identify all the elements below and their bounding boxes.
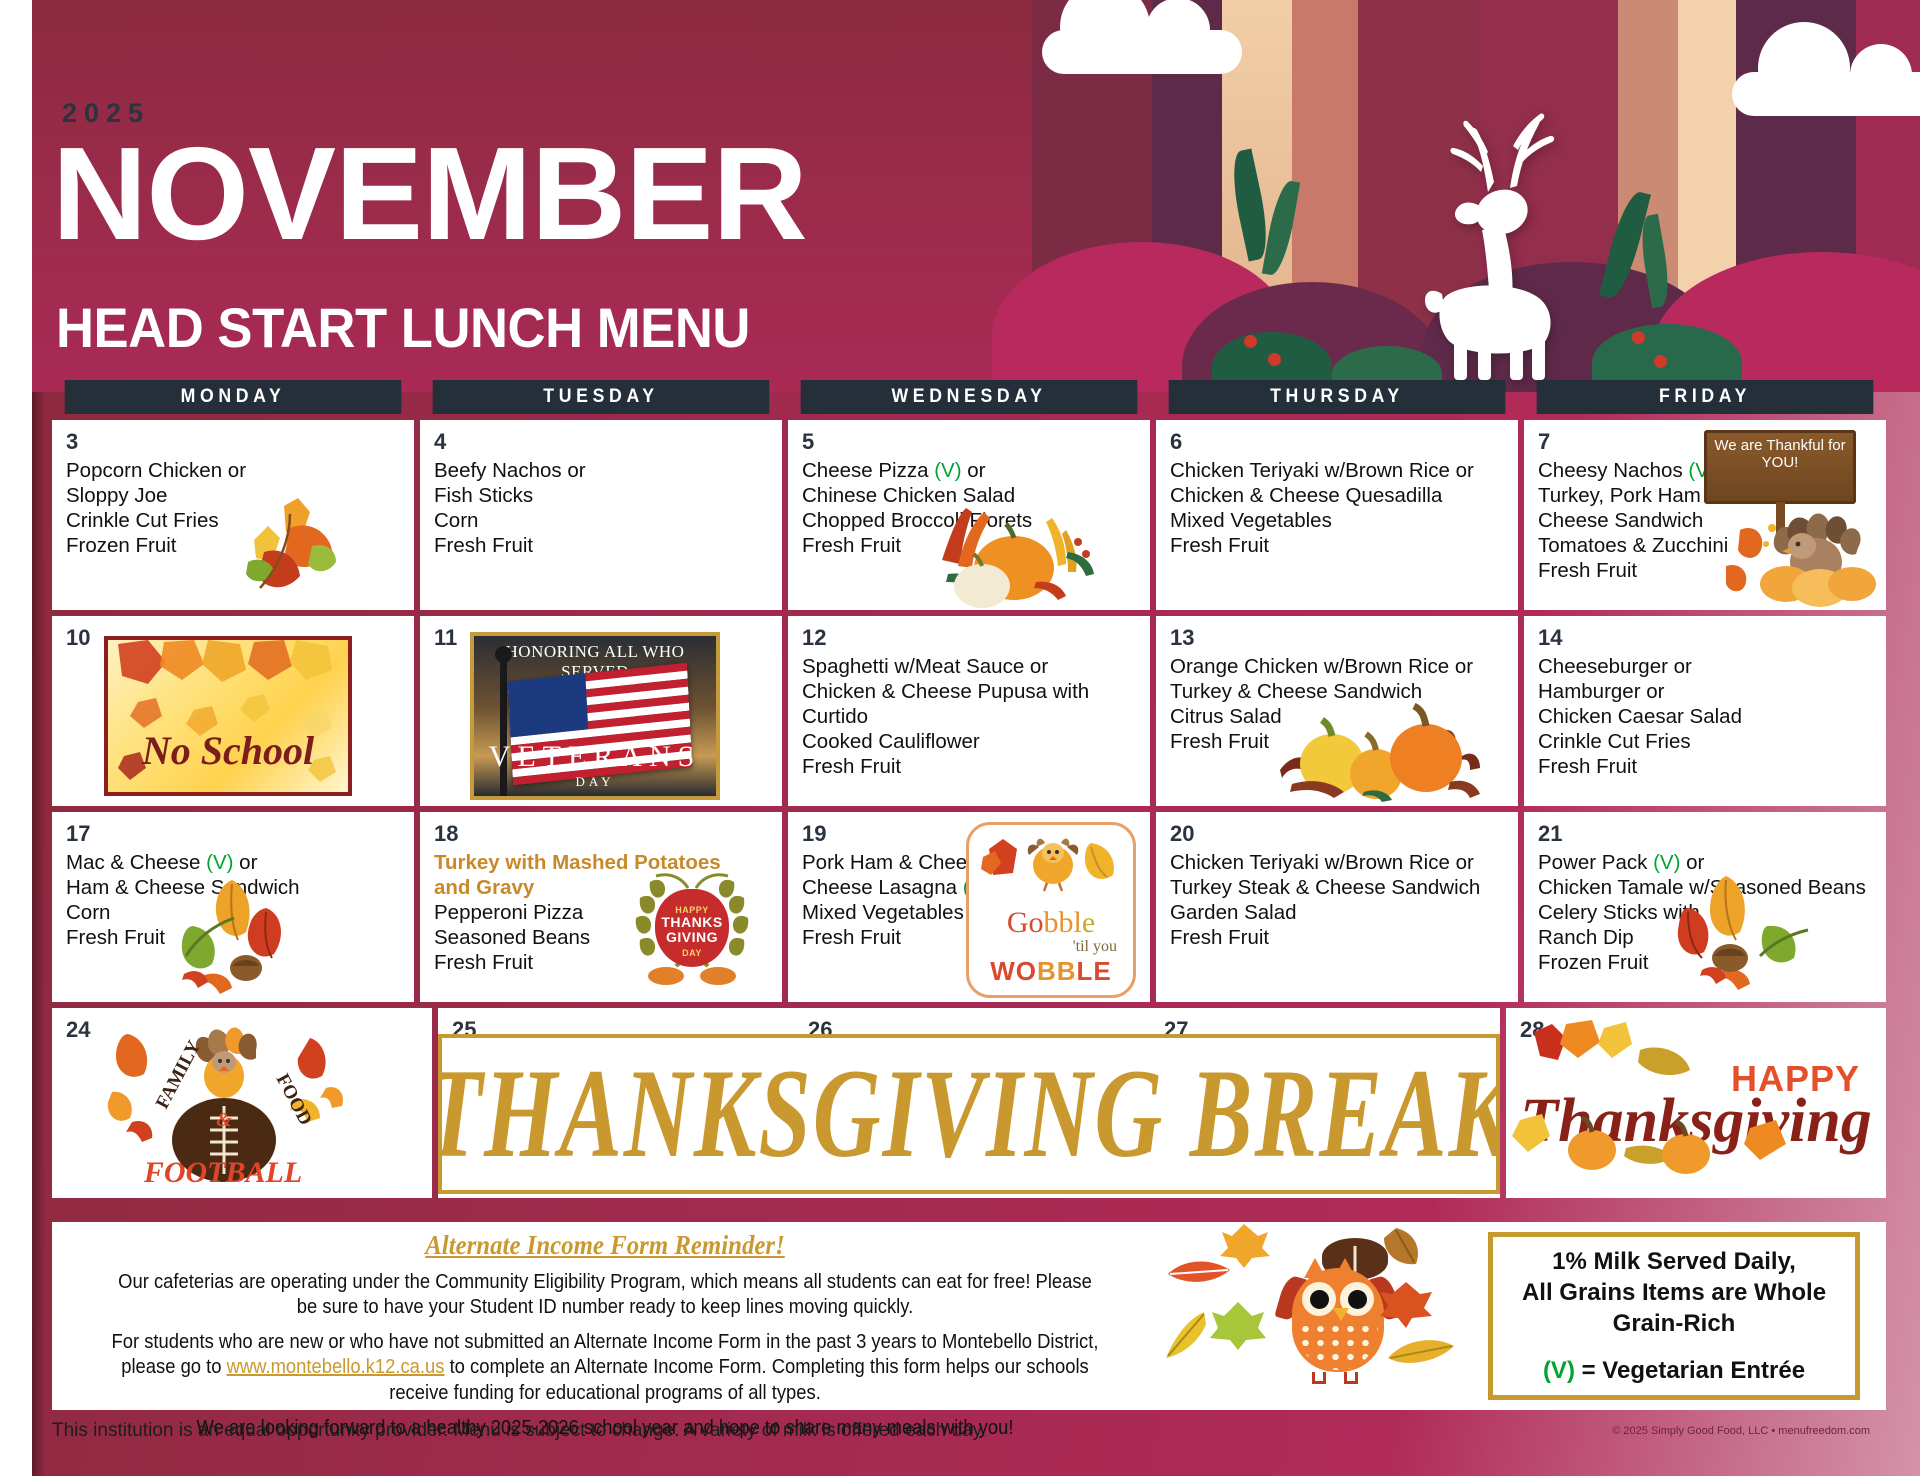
footer-paragraph-2: For students who are new or who have not… [105, 1330, 1104, 1407]
menu-item: Fresh Fruit [1170, 925, 1506, 950]
menu-item: Crinkle Cut Fries [1538, 729, 1874, 754]
menu-item: Chopped Broccoli Florets [802, 508, 1138, 533]
footer-title: Alternate Income Form Reminder! [105, 1228, 1104, 1263]
day-number: 6 [1170, 430, 1506, 454]
day-cell-20[interactable]: 20 Chicken Teriyaki w/Brown Rice or Turk… [1156, 812, 1518, 1002]
weekday-thursday: THURSDAY [1169, 380, 1506, 414]
day-cell-12[interactable]: 12 Spaghetti w/Meat Sauce or Chicken & C… [788, 616, 1150, 806]
menu-items: Chicken Teriyaki w/Brown Rice or Turkey … [1170, 850, 1506, 950]
day-cell-18[interactable]: 18 Turkey with Mashed Potatoes and Gravy… [420, 812, 782, 1002]
menu-items: Popcorn Chicken or Sloppy Joe Crinkle Cu… [66, 458, 402, 558]
thankful-turkey-sign-icon: We are Thankful for YOU! [1680, 426, 1880, 604]
calendar-grid: 3 Popcorn Chicken or Sloppy Joe Crinkle … [52, 420, 1886, 1204]
berry-icon [1244, 335, 1257, 348]
menu-item: Garden Salad [1170, 900, 1506, 925]
day-cell-17[interactable]: 17 Mac & Cheese (V) or Ham & Cheese Sand… [52, 812, 414, 1002]
day-cell-11[interactable]: 11 HONORING ALL WHO SERVED [420, 616, 782, 806]
menu-item: Power Pack (V) or [1538, 850, 1874, 875]
menu-item: Sloppy Joe [66, 483, 402, 508]
footer-paragraph-1: Our cafeterias are operating under the C… [105, 1270, 1104, 1321]
bottom-bar: This institution is an equal opportunity… [52, 1414, 1886, 1448]
menu-item: Orange Chicken w/Brown Rice or [1170, 654, 1506, 679]
day-number: 4 [434, 430, 770, 454]
footer-artwork [1158, 1222, 1488, 1410]
menu-item: Turkey & Cheese Sandwich [1170, 679, 1506, 704]
menu-item: Frozen Fruit [1538, 950, 1874, 975]
wreath-apple: HAPPYTHANKSGIVINGDAY [655, 889, 729, 967]
milk-line-3: Grain-Rich [1613, 1308, 1736, 1339]
menu-item: Crinkle Cut Fries [66, 508, 402, 533]
svg-text:&: & [216, 1109, 232, 1131]
day-number: 3 [66, 430, 402, 454]
menu-item: Fresh Fruit [1170, 533, 1506, 558]
thanksgiving-break-cells[interactable]: 25 26 27 THANKSGIVING BREAK [438, 1008, 1500, 1198]
menu-item: Ranch Dip [1538, 925, 1874, 950]
thanksgiving-break-text: THANKSGIVING BREAK [438, 1041, 1500, 1187]
day-cell-24[interactable]: 24 [52, 1008, 432, 1198]
menu-subtitle: HEAD START LUNCH MENU [56, 300, 750, 356]
menu-page: 2025 NOVEMBER HEAD START LUNCH MENU MOND… [0, 0, 1920, 1484]
menu-item: Mixed Vegetables [1170, 508, 1506, 533]
vegetarian-legend-text: = Vegetarian Entrée [1575, 1357, 1805, 1384]
menu-items: Spaghetti w/Meat Sauce or Chicken & Chee… [802, 654, 1138, 779]
montebello-website-link[interactable]: www.montebello.k12.ca.us [227, 1356, 445, 1378]
menu-item: Fresh Fruit [1170, 729, 1506, 754]
day-cell-4[interactable]: 4 Beefy Nachos or Fish Sticks Corn Fresh… [420, 420, 782, 610]
day-number: 20 [1170, 822, 1506, 846]
month-title: NOVEMBER [52, 128, 807, 260]
vegetarian-marker: (V) [1543, 1357, 1575, 1384]
menu-items: Chicken Teriyaki w/Brown Rice or Chicken… [1170, 458, 1506, 558]
vegetarian-marker: (V) [206, 851, 233, 874]
footer-panel: Alternate Income Form Reminder! Our cafe… [52, 1222, 1886, 1410]
menu-items: Mac & Cheese (V) or Ham & Cheese Sandwic… [66, 850, 402, 950]
equal-opportunity-notice: This institution is an equal opportunity… [52, 1420, 986, 1442]
weekday-friday: FRIDAY [1537, 380, 1874, 414]
day-cell-28[interactable]: 28 HAPPY [1506, 1008, 1886, 1198]
day-cell-3[interactable]: 3 Popcorn Chicken or Sloppy Joe Crinkle … [52, 420, 414, 610]
menu-item: Chicken Caesar Salad [1538, 704, 1874, 729]
menu-items: Cheeseburger or Hamburger or Chicken Cae… [1538, 654, 1874, 779]
svg-text:FAMILY: FAMILY [152, 1037, 205, 1112]
day-number: 18 [434, 822, 770, 846]
vegetarian-marker: (V) [934, 459, 961, 482]
weekday-monday: MONDAY [65, 380, 402, 414]
day-number: 5 [802, 430, 1138, 454]
deer-icon [1384, 100, 1614, 380]
menu-item: Corn [434, 508, 770, 533]
weekday-header-row: MONDAY TUESDAY WEDNESDAY THURSDAY FRIDAY [52, 380, 1886, 414]
menu-item: Chinese Chicken Salad [802, 483, 1138, 508]
menu-item: Chicken & Cheese Quesadilla [1170, 483, 1506, 508]
menu-item: Popcorn Chicken or [66, 458, 402, 483]
menu-item: Beefy Nachos or [434, 458, 770, 483]
leaf-icon [1384, 1328, 1458, 1372]
menu-item: Fresh Fruit [434, 533, 770, 558]
leaf-icon [1370, 1226, 1424, 1274]
flag-pole-ball [495, 646, 512, 663]
cloud-icon [1042, 30, 1242, 74]
menu-items: Power Pack (V) or Chicken Tamale w/Seaso… [1538, 850, 1874, 975]
berry-icon [1268, 353, 1281, 366]
gobble-til-you-wobble-icon: Gobble 'til you WOBBLE [966, 822, 1136, 998]
milk-line-2: All Grains Items are Whole [1522, 1277, 1826, 1308]
menu-item: Cheese Pizza (V) or [802, 458, 1138, 483]
wobble-word: WOBBLE [990, 956, 1112, 987]
thanksgiving-break-banner: THANKSGIVING BREAK [438, 1034, 1500, 1194]
menu-item: Cheeseburger or [1538, 654, 1874, 679]
wreath-happy: HAPPY [675, 905, 709, 915]
day-number: 21 [1538, 822, 1874, 846]
menu-item: Celery Sticks with [1538, 900, 1874, 925]
vegetarian-legend: (V) = Vegetarian Entrée [1543, 1355, 1805, 1386]
day-cell-5[interactable]: 5 Cheese Pizza (V) or Chinese Chicken Sa… [788, 420, 1150, 610]
menu-item: Curtido [802, 704, 1138, 729]
menu-items: Cheese Pizza (V) or Chinese Chicken Sala… [802, 458, 1138, 558]
menu-item: Chicken Teriyaki w/Brown Rice or [1170, 850, 1506, 875]
day-cell-10[interactable]: 10 No School [52, 616, 414, 806]
menu-item: Corn [66, 900, 402, 925]
football-word: FOOTBALL [98, 1156, 348, 1190]
menu-item: Frozen Fruit [66, 533, 402, 558]
menu-item: Citrus Salad [1170, 704, 1506, 729]
leaf-icon [1216, 1222, 1272, 1270]
leaf-icon [1208, 1300, 1268, 1352]
thanksgiving-wreath-icon: HAPPYTHANKSGIVINGDAY [626, 862, 758, 994]
gobble-word: Gobble [1007, 908, 1095, 938]
calendar-week-row-break: 24 [52, 1008, 1886, 1198]
footer-text-block: Alternate Income Form Reminder! Our cafe… [96, 1222, 1114, 1410]
menu-items: Beefy Nachos or Fish Sticks Corn Fresh F… [434, 458, 770, 558]
family-food-football-icon: FAMILY FOOD & FOOTBALL [98, 1014, 348, 1194]
day-number: 14 [1538, 626, 1874, 650]
day-cell-14[interactable]: 14 Cheeseburger or Hamburger or Chicken … [1524, 616, 1886, 806]
happy-thanksgiving-icon: HAPPY Thanksgiving [1506, 1008, 1886, 1198]
menu-items: Orange Chicken w/Brown Rice or Turkey & … [1170, 654, 1506, 754]
menu-item: Chicken Tamale w/Seasoned Beans [1538, 875, 1874, 900]
menu-item: Fresh Fruit [802, 754, 1138, 779]
menu-item: Hamburger or [1538, 679, 1874, 704]
day-cell-19[interactable]: 19 Pork Ham & Cheese Sandwich or Cheese … [788, 812, 1150, 1002]
day-cell-6[interactable]: 6 Chicken Teriyaki w/Brown Rice or Chick… [1156, 420, 1518, 610]
copyright-notice: © 2025 Simply Good Food, LLC • menufreed… [1612, 1425, 1870, 1437]
footer-paragraph-2b: to complete an Alternate Income Form. Co… [389, 1356, 1089, 1404]
veterans-day-image: HONORING ALL WHO SERVED [470, 632, 720, 800]
menu-item: Mac & Cheese (V) or [66, 850, 402, 875]
weekday-wednesday: WEDNESDAY [801, 380, 1138, 414]
day-cell-21[interactable]: 21 Power Pack (V) or Chicken Tamale w/Se… [1524, 812, 1886, 1002]
menu-item: Fish Sticks [434, 483, 770, 508]
menu-item: Chicken Teriyaki w/Brown Rice or [1170, 458, 1506, 483]
menu-item: Fresh Fruit [1538, 754, 1874, 779]
milk-line-1: 1% Milk Served Daily, [1552, 1246, 1796, 1277]
no-school-text: No School [108, 727, 348, 774]
weekday-tuesday: TUESDAY [433, 380, 770, 414]
calendar-week-row: 3 Popcorn Chicken or Sloppy Joe Crinkle … [52, 420, 1886, 610]
milk-info-box: 1% Milk Served Daily, All Grains Items a… [1488, 1232, 1860, 1400]
day-number: 13 [1170, 626, 1506, 650]
berry-icon [1654, 355, 1667, 368]
menu-item: Turkey Steak & Cheese Sandwich [1170, 875, 1506, 900]
day-number: 17 [66, 822, 402, 846]
leaf-icon [1376, 1280, 1436, 1330]
menu-item: Fresh Fruit [66, 925, 402, 950]
flag-canton [508, 673, 589, 737]
veterans-subtitle: DAY [474, 774, 716, 790]
veterans-title: VETERANS [474, 740, 716, 774]
calendar-week-row: 10 No School [52, 616, 1886, 806]
day-cell-13[interactable]: 13 Orange Chicken w/Brown Rice or Turkey… [1156, 616, 1518, 806]
sign-text: We are Thankful for YOU! [1704, 430, 1856, 504]
menu-item: Ham & Cheese Sandwich [66, 875, 402, 900]
leaf-icon [1158, 1308, 1214, 1364]
menu-item: Chicken & Cheese Pupusa with [802, 679, 1138, 704]
berry-icon [1632, 331, 1645, 344]
svg-text:FOOD: FOOD [272, 1070, 316, 1128]
menu-item: Fresh Fruit [802, 533, 1138, 558]
til-you-word: 'til you [1073, 938, 1117, 956]
vegetarian-marker: (V) [1653, 851, 1680, 874]
cloud-icon [1732, 72, 1920, 116]
calendar-week-row: 17 Mac & Cheese (V) or Ham & Cheese Sand… [52, 812, 1886, 1002]
menu-item: Cooked Cauliflower [802, 729, 1138, 754]
no-school-image: No School [104, 636, 352, 796]
day-cell-7[interactable]: 7 Cheesy Nachos (V) or Turkey, Pork Ham … [1524, 420, 1886, 610]
menu-item: Spaghetti w/Meat Sauce or [802, 654, 1138, 679]
wreath-day: DAY [682, 948, 702, 958]
day-number: 12 [802, 626, 1138, 650]
